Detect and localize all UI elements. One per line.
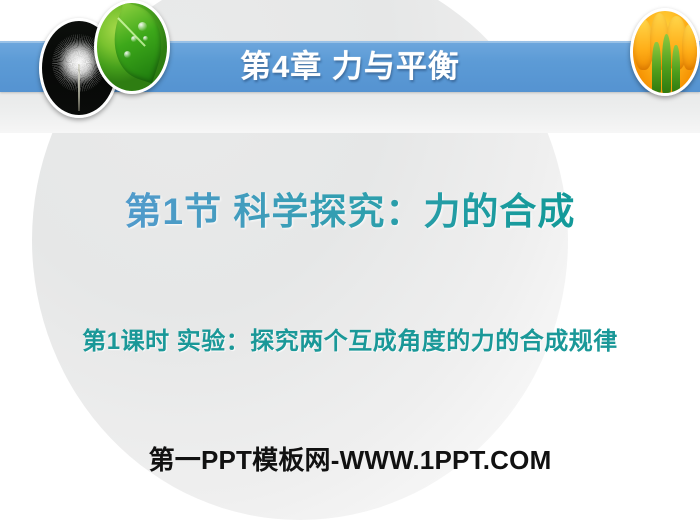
water-drop-icon [124, 51, 131, 58]
tulip-stem-shape [662, 34, 672, 93]
tulip-stem-shape [672, 45, 680, 93]
tulip-petal-shape [682, 24, 697, 70]
presentation-slide: 第4章 力与平衡 第1节 科学探究：力的合成 第1课时 实验：探究两个互成角度的… [0, 0, 700, 525]
water-drop-icon [138, 22, 147, 31]
section-title: 第1节 科学探究：力的合成 [0, 181, 700, 235]
lesson-subtitle: 第1课时 实验：探究两个互成角度的力的合成规律 [0, 321, 700, 356]
leaf-photo [94, 0, 170, 94]
tulip-photo [630, 8, 700, 96]
site-watermark: 第一PPT模板网-WWW.1PPT.COM [0, 440, 700, 477]
tulip-stem-shape [652, 42, 660, 93]
